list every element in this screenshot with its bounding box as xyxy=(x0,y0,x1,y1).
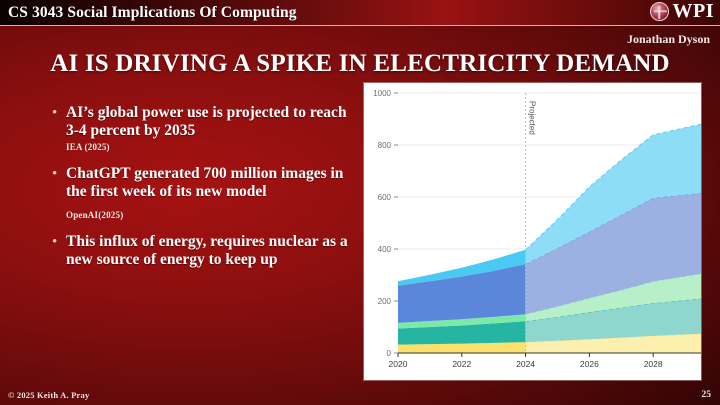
x-tick-label: 2024 xyxy=(516,359,535,369)
wpi-wordmark: WPI xyxy=(673,1,715,21)
list-item: • ChatGPT generated 700 million images i… xyxy=(52,165,352,220)
x-tick-label: 2022 xyxy=(452,359,471,369)
y-tick-label: 600 xyxy=(378,193,392,202)
footer-copyright: © 2025 Keith A. Pray xyxy=(8,390,89,400)
chart-x-tick-labels: 20202022202420262028 xyxy=(389,359,663,369)
bullet-marker-icon: • xyxy=(52,233,66,251)
chart-area-series xyxy=(398,124,701,353)
bullet-marker-icon: • xyxy=(52,165,66,183)
list-item: • This influx of energy, requires nuclea… xyxy=(52,233,352,269)
bullet-list: • AI’s global power use is projected to … xyxy=(52,104,352,282)
x-tick-label: 2026 xyxy=(580,359,599,369)
wpi-logo: WPI xyxy=(650,1,715,21)
slide-header-bar: CS 3043 Social Implications Of Computing… xyxy=(0,0,720,26)
slide-canvas: CS 3043 Social Implications Of Computing… xyxy=(0,0,720,405)
y-tick-label: 800 xyxy=(378,141,392,150)
author-name: Jonathan Dyson xyxy=(627,32,710,47)
x-tick-label: 2028 xyxy=(644,359,663,369)
chart-y-tick-labels: 02004006008001000 xyxy=(373,89,391,358)
bullet-marker-icon: • xyxy=(52,104,66,122)
bullet-text: AI’s global power use is projected to re… xyxy=(66,104,352,140)
footer-page-number: 25 xyxy=(702,390,712,400)
bullet-citation: OpenAI(2025) xyxy=(66,210,352,220)
wpi-seal-icon xyxy=(650,2,669,21)
y-tick-label: 1000 xyxy=(373,89,391,98)
page-title: AI IS DRIVING A SPIKE IN ELECTRICITY DEM… xyxy=(0,50,720,78)
bullet-citation: IEA (2025) xyxy=(66,142,352,152)
y-tick-label: 200 xyxy=(378,297,392,306)
course-title: CS 3043 Social Implications Of Computing xyxy=(8,4,297,22)
stacked-area-chart-svg: 02004006008001000 20202022202420262028 P… xyxy=(364,83,701,380)
bullet-text: This influx of energy, requires nuclear … xyxy=(66,233,352,269)
list-item: • AI’s global power use is projected to … xyxy=(52,104,352,152)
y-tick-label: 400 xyxy=(378,245,392,254)
projected-annotation-label: Projected xyxy=(528,101,537,135)
bullet-text: ChatGPT generated 700 million images in … xyxy=(66,165,352,201)
chart-annotations: Projected xyxy=(528,101,537,135)
y-tick-label: 0 xyxy=(387,349,392,358)
electricity-demand-chart: 02004006008001000 20202022202420262028 P… xyxy=(364,83,701,380)
x-tick-label: 2020 xyxy=(389,359,408,369)
